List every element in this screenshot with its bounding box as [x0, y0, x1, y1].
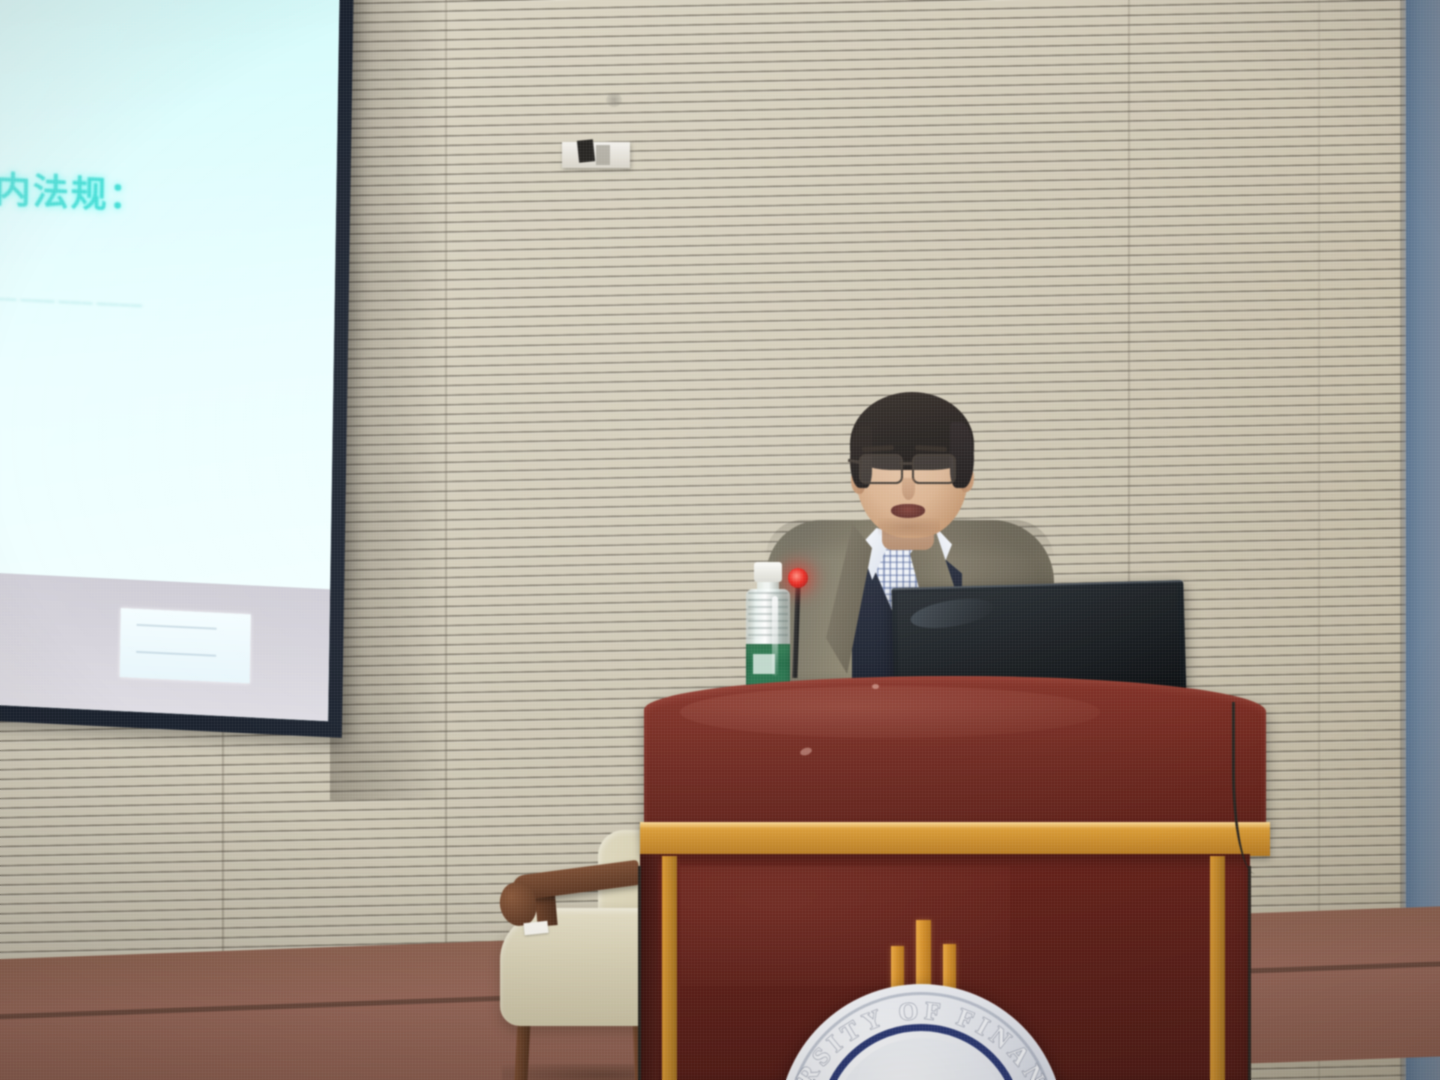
podium-gold-band-highlight [640, 822, 1270, 829]
projection-screen: 的党内法规： 报告 ———————— ——— ——— ———— [0, 0, 354, 738]
slide-subtitle: ———————— ——— ——— ———— [0, 287, 319, 323]
presenter-mouth [891, 504, 925, 518]
wall-smudge [606, 93, 622, 107]
seal-arc-text: NIVERSITY OF FINANCE A [778, 984, 1064, 1080]
bottle-ribs [748, 592, 788, 636]
eyeglasses-bridge [899, 462, 913, 465]
eyeglasses-lens-left [859, 454, 903, 484]
eyeglasses-lens-right [912, 454, 956, 484]
bottle-cap [754, 562, 782, 582]
wall-bracket-clip [577, 139, 595, 163]
podium-front-sheen [680, 866, 1010, 986]
podium-desktop-sheen [680, 686, 1100, 738]
podium-cable-lower [1248, 866, 1267, 1080]
presenter-nose [902, 478, 915, 500]
slide-footer-box [120, 608, 251, 683]
speaking-podium: NIVERSITY OF FINANCE A [640, 676, 1270, 1080]
university-seal: NIVERSITY OF FINANCE A [778, 984, 1064, 1080]
podium-cable-left [638, 866, 651, 1080]
chair-label-sticker [523, 921, 548, 935]
podium-trim-right [1210, 856, 1225, 1080]
seal-text-path: NIVERSITY OF FINANCE A [778, 984, 1064, 1080]
podium-trim-left [662, 856, 677, 1080]
podium-surface-mark [872, 684, 879, 689]
slide-footer-line [136, 624, 217, 630]
slide-footer-panel [0, 570, 330, 722]
slide-footer-line [136, 651, 217, 657]
bottle-highlight [772, 596, 778, 676]
photograph-scene: 的党内法规： 报告 ———————— ——— ——— ———— [0, 0, 1440, 1080]
screen-surface: 的党内法规： 报告 ———————— ——— ——— ———— [0, 0, 340, 721]
wall-bracket-plate [596, 145, 610, 165]
presenter-chin-shadow [878, 518, 940, 536]
slide-upper-area: 的党内法规： 报告 ———————— ——— ——— ———— [0, 0, 340, 589]
